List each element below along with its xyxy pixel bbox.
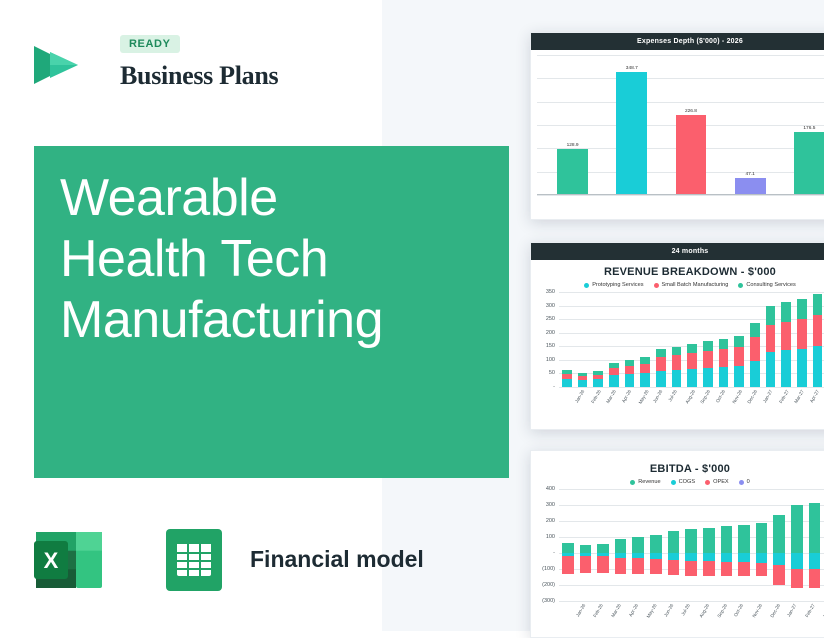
chart1-title: Expenses Depth ($'000) - 2026 (531, 33, 824, 50)
chart3-xtick-0: Jan-26 (575, 603, 586, 618)
chart3-legend: RevenueCOGSOPEX0 (531, 479, 824, 485)
chart3-ytick-6: (200) (537, 582, 555, 588)
chart3-bar-2-8 (703, 561, 715, 575)
chart2-bar-4-2 (625, 360, 635, 366)
legend-item-0: Revenue (630, 479, 660, 485)
chart2-bar-7-1 (672, 355, 682, 370)
chart1-bar-value-0: 128.9 (549, 143, 596, 148)
svg-text:X: X (44, 548, 59, 573)
chart3-bar-2-10 (738, 562, 750, 576)
chart2-xtick-15: Apr-27 (809, 389, 820, 403)
chart2-bar-1-0 (578, 380, 588, 387)
chart2-bar-9-1 (703, 351, 713, 368)
chart3-bar-2-4 (632, 558, 644, 574)
chart2-bar-14-1 (781, 322, 791, 351)
chart2-bar-14-2 (781, 302, 791, 322)
chart-card-expenses-depth: Expenses Depth ($'000) - 2026 128.9348.7… (530, 32, 824, 220)
chart2-bar-5-1 (640, 364, 650, 373)
chart2-xtick-14: Mar-27 (793, 389, 805, 404)
chart3-bar-revenue-11 (756, 523, 768, 553)
chart3-bar-1-6 (668, 553, 680, 560)
chart3-xtick-4: May-26 (646, 603, 658, 619)
chart2-ytick-2: 250 (537, 316, 555, 322)
brand-logo-block: READY Business Plans (28, 30, 348, 102)
legend-item-1: COGS (671, 479, 695, 485)
chart2-xtick-4: May-26 (637, 389, 649, 405)
chart2-bar-9-0 (703, 368, 713, 387)
chart3-xtick-7: Aug-26 (699, 603, 711, 618)
legend-swatch-1 (671, 480, 676, 485)
chart3-bar-revenue-10 (738, 525, 750, 553)
google-sheets-icon (158, 524, 230, 596)
legend-swatch-2 (738, 283, 743, 288)
chart3-xtick-11: Dec-26 (769, 603, 781, 618)
hero-title-line-3: Manufacturing (60, 290, 490, 351)
chart2-bar-8-0 (687, 369, 697, 387)
chart3-bar-revenue-2 (597, 544, 609, 553)
chart3-bar-revenue-12 (773, 515, 785, 553)
ready-badge: READY (120, 35, 180, 53)
chart2-title: REVENUE BREAKDOWN - $'000 (531, 266, 824, 278)
chart3-ytick-1: 300 (537, 502, 555, 508)
chart3-ytick-4: - (537, 550, 555, 556)
chart3-xtick-10: Nov-26 (751, 603, 763, 618)
legend-label-0: Revenue (638, 479, 660, 485)
chart3-bar-1-10 (738, 553, 750, 562)
chart2-bar-6-0 (656, 371, 666, 387)
chart3-bar-1-14 (809, 553, 821, 569)
chart3-bar-1-8 (703, 553, 715, 561)
chart3-bar-revenue-6 (668, 531, 680, 553)
chart3-xtick-2: Mar-26 (610, 603, 622, 618)
chart3-bar-revenue-7 (685, 529, 697, 553)
chart3-bar-2-9 (721, 562, 733, 576)
chart3-ytick-7: (300) (537, 598, 555, 604)
chart3-bar-2-5 (650, 559, 662, 574)
chart-card-revenue-breakdown: 24 months REVENUE BREAKDOWN - $'000 Prot… (530, 242, 824, 430)
chart2-bar-0-1 (562, 374, 572, 379)
chart3-bar-revenue-4 (632, 537, 644, 553)
chart1-plot-area: 128.9348.7226.847.1176.5 (537, 55, 824, 195)
chart3-ytick-5: (100) (537, 566, 555, 572)
microsoft-excel-icon: X (34, 524, 106, 596)
chart1-gridline-4 (537, 102, 824, 103)
chart3-bar-2-7 (685, 561, 697, 576)
chart2-bar-16-2 (813, 294, 823, 315)
chart3-bar-2-13 (791, 569, 803, 588)
chart3-title: EBITDA - $'000 (531, 463, 824, 475)
chart3-gridline-0 (559, 489, 824, 490)
legend-label-1: Small Batch Manufacturing (662, 282, 729, 288)
chart1-bar-2 (676, 115, 707, 194)
chart3-bar-2-6 (668, 560, 680, 575)
chart3-xtick-6: Jul-26 (680, 603, 691, 616)
chart3-ytick-0: 400 (537, 486, 555, 492)
chart3-bar-2-14 (809, 569, 821, 588)
chart2-bar-15-2 (797, 299, 807, 319)
footer-block: X Financial model (34, 524, 454, 596)
chart2-bar-16-0 (813, 346, 823, 387)
chart2-bar-11-0 (734, 366, 744, 387)
chart2-xtick-7: Aug-26 (684, 389, 696, 404)
legend-item-2: OPEX (705, 479, 729, 485)
chart2-bar-8-2 (687, 344, 697, 353)
legend-label-1: COGS (679, 479, 695, 485)
legend-label-2: Consulting Services (746, 282, 795, 288)
chart2-bar-4-1 (625, 366, 635, 374)
chart2-xtick-5: Jun-26 (652, 389, 663, 404)
legend-item-0: Prototyping Services (584, 282, 643, 288)
legend-item-1: Small Batch Manufacturing (654, 282, 729, 288)
chart3-bar-1-9 (721, 553, 733, 562)
chart3-bar-2-12 (773, 565, 785, 584)
legend-label-0: Prototyping Services (592, 282, 643, 288)
chart3-xtick-3: Apr-26 (628, 603, 639, 617)
chart1-bar-0 (557, 149, 588, 194)
chart2-xtick-1: Feb-26 (590, 389, 602, 404)
chart1-bar-value-2: 226.8 (668, 109, 715, 114)
chart2-gridline-0 (559, 292, 824, 293)
chart2-xtick-3: Apr-26 (621, 389, 632, 403)
chart2-bar-16-1 (813, 315, 823, 346)
chart2-bar-6-2 (656, 349, 666, 357)
chart1-gridline-6 (537, 55, 824, 56)
chart2-ytick-0: 350 (537, 289, 555, 295)
chart2-bar-5-0 (640, 373, 650, 387)
chart2-bar-13-1 (766, 325, 776, 352)
chart3-bar-revenue-13 (791, 505, 803, 553)
chart3-bar-2-0 (562, 556, 574, 574)
chart3-bar-2-2 (597, 556, 609, 572)
legend-item-2: Consulting Services (738, 282, 795, 288)
chart2-ytick-6: 50 (537, 370, 555, 376)
chart2-bar-13-0 (766, 352, 776, 387)
chart2-bar-10-0 (719, 367, 729, 387)
legend-label-3: 0 (747, 479, 750, 485)
legend-swatch-2 (705, 480, 710, 485)
chart2-xtick-2: Mar-26 (605, 389, 617, 404)
chart-card-ebitda: EBITDA - $'000 RevenueCOGSOPEX0 40030020… (530, 450, 824, 638)
chart3-ytick-3: 100 (537, 534, 555, 540)
chart2-xtick-12: Jan-27 (762, 389, 773, 404)
chart2-bar-11-1 (734, 347, 744, 366)
legend-swatch-0 (630, 480, 635, 485)
chart2-bar-3-2 (609, 363, 619, 368)
page-root: READY Business Plans Wearable Health Tec… (0, 0, 824, 631)
chart2-bar-1-1 (578, 376, 588, 380)
chart2-bar-10-2 (719, 339, 729, 349)
brand-text: READY Business Plans (120, 34, 278, 91)
chart3-bar-1-11 (756, 553, 768, 563)
chart2-bar-1-2 (578, 373, 588, 376)
footer-label: Financial model (250, 546, 424, 573)
chart3-bar-revenue-5 (650, 535, 662, 553)
chart3-xtick-9: Oct-26 (733, 603, 744, 617)
chart2-bar-0-0 (562, 379, 572, 387)
chart2-xtick-11: Dec-26 (747, 389, 759, 404)
chart3-xtick-8: Sep-26 (716, 603, 728, 618)
chart3-ytick-2: 200 (537, 518, 555, 524)
page-title: Wearable Health Tech Manufacturing (60, 168, 490, 351)
chart1-bar-3 (735, 178, 766, 194)
chart3-bar-1-13 (791, 553, 803, 569)
legend-swatch-1 (654, 283, 659, 288)
chart2-xtick-0: Jan-26 (574, 389, 585, 404)
hero-title-line-2: Health Tech (60, 229, 490, 290)
chart3-xtick-13: Feb-27 (804, 603, 816, 618)
chart2-header: 24 months (531, 243, 824, 260)
hero-panel: Wearable Health Tech Manufacturing (34, 146, 509, 478)
chart1-bar-4 (794, 132, 824, 194)
chart3-gridline-6 (559, 585, 824, 586)
chart2-bar-8-1 (687, 353, 697, 369)
chart2-xtick-13: Feb-27 (778, 389, 790, 404)
chart2-bar-3-1 (609, 368, 619, 375)
chart2-bar-13-2 (766, 306, 776, 325)
chart1-gridline-0 (537, 195, 824, 196)
chart2-bar-5-2 (640, 357, 650, 364)
chart2-xtick-8: Sep-26 (700, 389, 712, 404)
chart2-bar-7-0 (672, 370, 682, 387)
chart3-bar-2-1 (580, 556, 592, 573)
brand-name: Business Plans (120, 61, 278, 91)
chart3-plot-area: 400300200100-(100)(200)(300)Jan-26Feb-26… (537, 489, 824, 615)
chart3-bar-revenue-3 (615, 539, 627, 553)
chart2-bar-11-2 (734, 336, 744, 347)
legend-label-2: OPEX (713, 479, 729, 485)
chart2-xtick-6: Jul-26 (667, 389, 678, 402)
chart3-bar-revenue-1 (580, 545, 592, 553)
chart2-ytick-1: 300 (537, 303, 555, 309)
chart1-bar-value-4: 176.5 (786, 126, 824, 131)
chart1-gridline-5 (537, 78, 824, 79)
chart2-ytick-4: 150 (537, 343, 555, 349)
chart2-bar-14-0 (781, 350, 791, 387)
chart3-xtick-12: Jan-27 (786, 603, 797, 618)
chart2-bar-12-2 (750, 323, 760, 337)
chart2-bar-0-2 (562, 370, 572, 374)
chart2-ytick-7: - (537, 384, 555, 390)
chart2-bar-2-1 (593, 375, 603, 380)
chart2-legend: Prototyping ServicesSmall Batch Manufact… (531, 282, 824, 288)
chart2-bar-15-1 (797, 319, 807, 349)
chart3-bar-2-3 (615, 558, 627, 574)
chart2-ytick-3: 200 (537, 330, 555, 336)
chart3-bar-1-12 (773, 553, 785, 565)
chart2-bar-12-0 (750, 361, 760, 387)
chart2-bar-2-2 (593, 371, 603, 375)
chart3-xtick-1: Feb-26 (593, 603, 605, 618)
chart2-bar-12-1 (750, 337, 760, 361)
chart3-gridline-1 (559, 505, 824, 506)
legend-swatch-3 (739, 480, 744, 485)
chart2-ytick-5: 100 (537, 357, 555, 363)
chart3-bar-revenue-0 (562, 543, 574, 553)
chart3-bar-revenue-14 (809, 503, 821, 553)
hero-title-line-1: Wearable (60, 168, 490, 229)
chart2-plot-area: 35030025020015010050-Jan-26Feb-26Mar-26A… (537, 292, 824, 400)
chart1-bar-value-3: 47.1 (727, 172, 774, 177)
chart3-bar-2-11 (756, 563, 768, 576)
chart2-xtick-9: Oct-26 (715, 389, 726, 403)
chart2-bar-10-1 (719, 349, 729, 367)
legend-item-3: 0 (739, 479, 750, 485)
chart2-bar-7-2 (672, 347, 682, 356)
chart3-bar-revenue-9 (721, 526, 733, 553)
play-triangle-logo-icon (28, 36, 86, 94)
chart2-bar-9-2 (703, 341, 713, 351)
chart3-bar-revenue-8 (703, 528, 715, 553)
chart2-bar-4-0 (625, 374, 635, 387)
chart1-bar-value-1: 348.7 (608, 66, 655, 71)
chart2-bar-2-0 (593, 379, 603, 387)
chart2-bar-6-1 (656, 357, 666, 371)
chart1-bar-1 (616, 72, 647, 194)
chart3-xtick-5: Jun-26 (663, 603, 674, 618)
chart2-bar-15-0 (797, 349, 807, 387)
chart3-bar-1-7 (685, 553, 697, 561)
legend-swatch-0 (584, 283, 589, 288)
chart2-bar-3-0 (609, 375, 619, 387)
chart2-xtick-10: Nov-26 (731, 389, 743, 404)
